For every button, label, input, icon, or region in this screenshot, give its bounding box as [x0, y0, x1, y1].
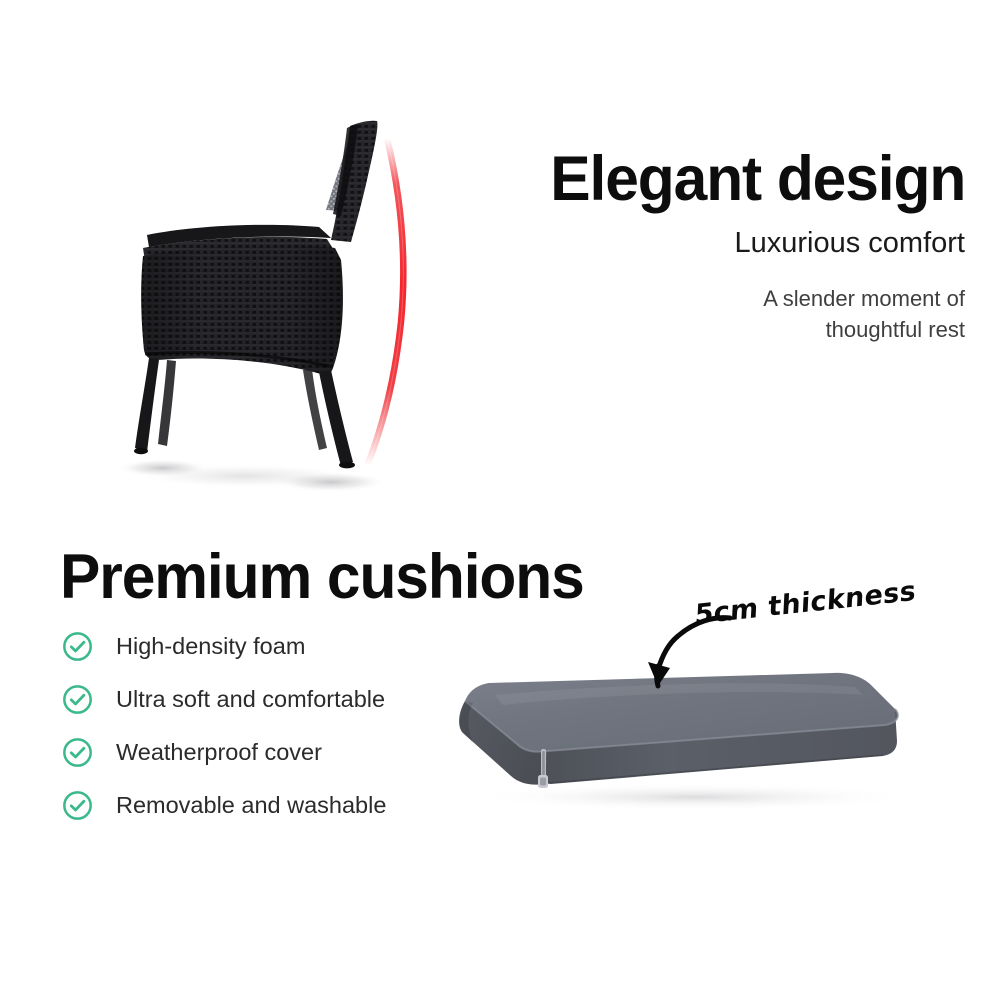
circle-check-icon	[62, 790, 93, 821]
elegant-design-subheadline: Luxurious comfort	[735, 228, 966, 260]
circle-check-icon	[62, 684, 93, 715]
feature-list: High-density foam Ultra soft and comfort…	[62, 620, 482, 832]
circle-check-icon	[62, 737, 93, 768]
feature-item-high-density-foam: High-density foam	[62, 620, 482, 673]
thickness-annotation-label: 5cm thickness	[694, 576, 917, 631]
elegant-design-body-line-2: thoughtful rest	[635, 314, 965, 345]
feature-label: Ultra soft and comfortable	[116, 688, 385, 712]
infographic-page: Elegant design Luxurious comfort A slend…	[0, 0, 1000, 1000]
circle-check-icon	[62, 631, 93, 662]
feature-item-ultra-soft: Ultra soft and comfortable	[62, 673, 482, 726]
elegant-design-body-line-1: A slender moment of	[635, 283, 965, 314]
elegant-design-body-text: A slender moment of thoughtful rest	[635, 283, 965, 345]
feature-item-removable-washable: Removable and washable	[62, 779, 482, 832]
chair-product-image	[95, 110, 455, 500]
elegant-design-headline: Elegant design	[550, 148, 965, 211]
feature-label: Weatherproof cover	[116, 741, 322, 765]
feature-item-weatherproof-cover: Weatherproof cover	[62, 726, 482, 779]
feature-label: Removable and washable	[116, 794, 386, 818]
feature-label: High-density foam	[116, 635, 305, 659]
premium-cushions-headline: Premium cushions	[60, 546, 584, 609]
